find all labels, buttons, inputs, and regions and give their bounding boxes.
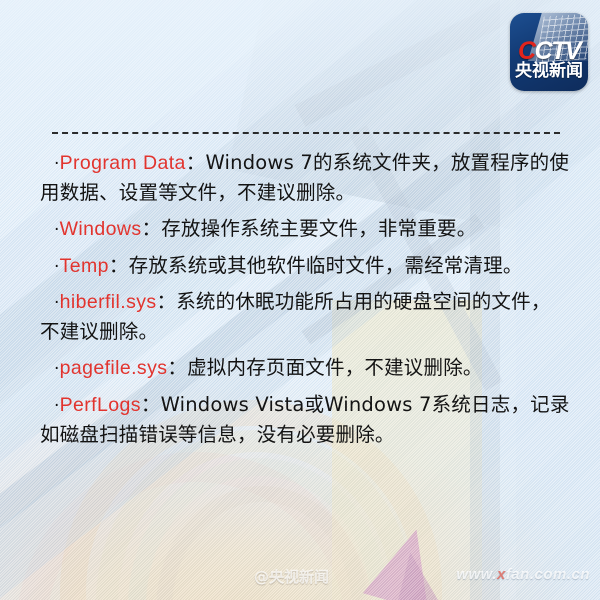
entry-colon: ： — [109, 254, 129, 277]
content-area: ·Program Data：Windows 7的系统文件夹，放置程序的使用数据、… — [0, 132, 600, 456]
site-watermark-suffix: fan.com.cn — [506, 566, 590, 583]
site-watermark-accent: x — [497, 566, 506, 583]
list-item: ·Temp：存放系统或其他软件临时文件，需经常清理。 — [40, 251, 570, 281]
list-item: ·hiberfil.sys：系统的休眠功能所占用的硬盘空间的文件，不建议删除。 — [40, 287, 570, 347]
logo-chinese-text: 央视新闻 — [510, 63, 588, 80]
entry-colon: ： — [167, 356, 187, 379]
entry-colon: ： — [141, 393, 161, 416]
list-item: ·PerfLogs：Windows Vista或Windows 7系统日志，记录… — [40, 390, 570, 450]
entry-description: 存放操作系统主要文件，非常重要。 — [161, 217, 476, 240]
entry-term: PerfLogs — [60, 394, 141, 416]
list-item: ·Windows：存放操作系统主要文件，非常重要。 — [40, 214, 570, 244]
entry-description: 存放系统或其他软件临时文件，需经常清理。 — [129, 254, 523, 277]
cctv-news-logo[interactable]: CCTV 央视新闻 — [510, 13, 588, 91]
decorative-pink-triangle — [388, 549, 439, 600]
entry-term: Windows — [60, 218, 142, 240]
entry-description: 虚拟内存页面文件，不建议删除。 — [187, 356, 483, 379]
list-item: ·pagefile.sys：虚拟内存页面文件，不建议删除。 — [40, 353, 570, 383]
entry-term: hiberfil.sys — [60, 291, 157, 313]
entry-term: pagefile.sys — [60, 357, 168, 379]
poster-root: CCTV 央视新闻 ·Program Data：Windows 7的系统文件夹，… — [0, 0, 600, 600]
entry-term: Temp — [60, 255, 109, 277]
account-watermark: @央视新闻 — [254, 566, 329, 587]
site-watermark-prefix: www. — [456, 566, 497, 583]
entry-list: ·Program Data：Windows 7的系统文件夹，放置程序的使用数据、… — [40, 148, 570, 450]
entry-colon: ： — [157, 290, 177, 313]
site-watermark: www.xfan.com.cn — [456, 566, 590, 583]
entry-term: Program Data — [60, 152, 186, 174]
entry-colon: ： — [186, 151, 206, 174]
dashed-divider — [52, 132, 560, 134]
list-item: ·Program Data：Windows 7的系统文件夹，放置程序的使用数据、… — [40, 148, 570, 208]
entry-colon: ： — [142, 217, 162, 240]
